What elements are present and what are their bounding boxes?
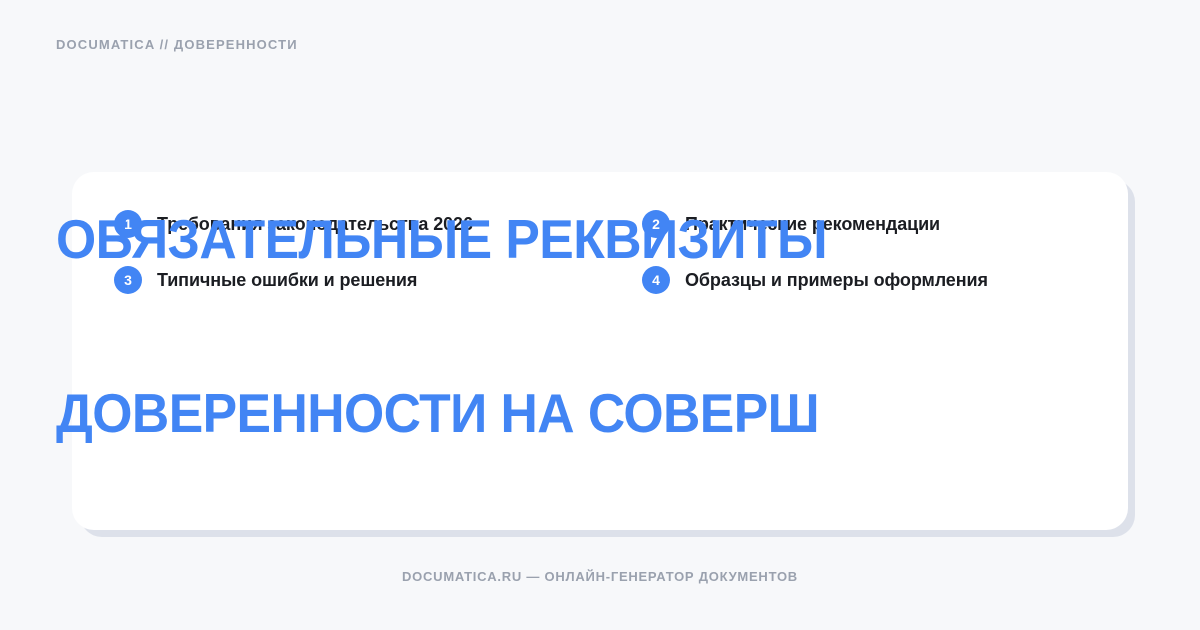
list-item-label: Типичные ошибки и решения <box>157 270 417 291</box>
footer-attribution: DOCUMATICA.RU — ОНЛАЙН-ГЕНЕРАТОР ДОКУМЕН… <box>0 569 1200 584</box>
bullet-number-badge: 1 <box>114 210 142 238</box>
bullet-number-badge: 3 <box>114 266 142 294</box>
list-item[interactable]: 3 Типичные ошибки и решения <box>114 263 642 297</box>
list-item-label: Требования законодательства 2026 <box>157 214 473 235</box>
list-item-label: Практические рекомендации <box>685 214 940 235</box>
list-item[interactable]: 1 Требования законодательства 2026 <box>114 207 642 241</box>
list-item[interactable]: 4 Образцы и примеры оформления <box>642 263 1094 297</box>
bullet-number-badge: 2 <box>642 210 670 238</box>
content-card: 1 Требования законодательства 2026 2 Пра… <box>72 172 1128 530</box>
list-item-label: Образцы и примеры оформления <box>685 270 988 291</box>
bullet-grid: 1 Требования законодательства 2026 2 Пра… <box>114 207 1094 297</box>
bullet-number-badge: 4 <box>642 266 670 294</box>
poster-canvas: DOCUMATICA // ДОВЕРЕННОСТИ ОБЯЗАТЕЛЬНЫЕ … <box>0 0 1200 630</box>
list-item[interactable]: 2 Практические рекомендации <box>642 207 1094 241</box>
brand-eyebrow: DOCUMATICA // ДОВЕРЕННОСТИ <box>56 37 298 52</box>
